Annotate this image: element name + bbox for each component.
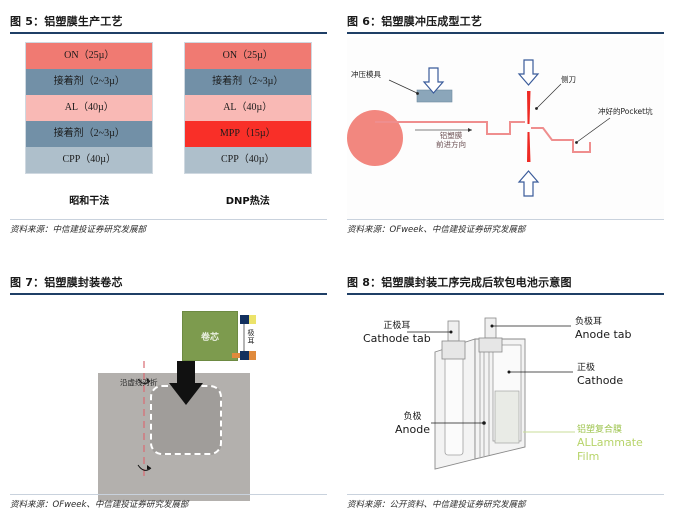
cathode-plate-inner-shape (495, 391, 519, 443)
layer-row: AL（40µ） (185, 95, 311, 121)
die-leader-dot (416, 92, 419, 95)
layer-stack: ON（25µ） 接着剂（2~3µ） AL（40µ） MPP（15µ） CPP（4… (184, 42, 312, 174)
stamping-die-label: 冲压模具 (351, 71, 381, 80)
figure-7-header: 图 7：铝塑膜封装卷芯 (10, 271, 327, 295)
lower-blade-shape (527, 132, 531, 162)
figure-6-body: 冲压模具 铝塑膜 前进方向 侧刀 冲好的Pocket坑 (347, 38, 664, 219)
aluminum-film-label: 铝塑复合膜 ALLammate Film (577, 425, 643, 464)
layer-row: ON（25µ） (26, 43, 152, 69)
anode-label: 负极 Anode (395, 412, 430, 437)
winding-core-fold-diagram: 卷芯 (10, 299, 327, 480)
layer-row: AL（40µ） (26, 95, 152, 121)
figure-7-panel: 图 7：铝塑膜封装卷芯 卷芯 (0, 261, 337, 522)
film-path-right (531, 128, 590, 152)
anode-label-cn: 负极 (395, 412, 430, 423)
layer-stack: ON（25µ） 接着剂（2~3µ） AL（40µ） 接着剂（2~3µ） CPP（… (25, 42, 153, 174)
anode-leader-dot (482, 421, 486, 425)
figure-7-body: 卷芯 (10, 299, 327, 480)
layer-row: 接着剂（2~3µ） (26, 121, 152, 147)
cathode-tab-shape (448, 321, 459, 341)
anode-tab-seal-shape (479, 338, 502, 352)
anode-tab-foil-shape (249, 351, 256, 360)
layer-row: CPP（40µ） (26, 147, 152, 173)
blade-leader-dot (535, 107, 538, 110)
stamping-process-diagram: 冲压模具 铝塑膜 前进方向 侧刀 冲好的Pocket坑 (347, 38, 664, 219)
layer-stack-showa: ON（25µ） 接着剂（2~3µ） AL（40µ） 接着剂（2~3µ） CPP（… (25, 42, 153, 219)
anode-tab-label-en: Anode tab (575, 328, 632, 342)
cathode-tab-leader-dot (450, 331, 453, 334)
anode-tab-leader-dot (491, 325, 494, 328)
figure-6-header: 图 6：铝塑膜冲压成型工艺 (347, 10, 664, 34)
layer-stack-group: ON（25µ） 接着剂（2~3µ） AL（40µ） 接着剂（2~3µ） CPP（… (10, 38, 327, 219)
figure-6-title: 图 6：铝塑膜冲压成型工艺 (347, 13, 482, 29)
figure-5-panel: 图 5：铝塑膜生产工艺 ON（25µ） 接着剂（2~3µ） AL（40µ） 接着… (0, 0, 337, 261)
cathode-tab-foil-shape (249, 315, 256, 324)
layer-stack-dnp: ON（25µ） 接着剂（2~3µ） AL（40µ） MPP（15µ） CPP（4… (184, 42, 312, 219)
anode-tab-label-cn: 负极耳 (575, 317, 632, 328)
report-figure-page: 图 5：铝塑膜生产工艺 ON（25µ） 接着剂（2~3µ） AL（40µ） 接着… (0, 0, 674, 522)
tab-label: 极耳 (246, 329, 256, 345)
upper-blade-shape (527, 91, 531, 124)
cathode-leader-dot (508, 371, 511, 374)
cathode-tab-seal-shape (442, 341, 465, 359)
layer-row: ON（25µ） (185, 43, 311, 69)
cathode-tab-label: 正极耳 Cathode tab (363, 321, 431, 346)
layer-row: CPP（40µ） (185, 147, 311, 173)
anode-tab-shape (240, 351, 249, 360)
pocket-label: 冲好的Pocket坑 (598, 108, 653, 117)
layer-row: 接着剂（2~3µ） (26, 69, 152, 95)
figure-6-panel: 图 6：铝塑膜冲压成型工艺 (337, 0, 674, 261)
cathode-tab-label-cn: 正极耳 (363, 321, 431, 332)
figure-8-title: 图 8：铝塑膜封装工序完成后软包电池示意图 (347, 274, 572, 290)
die-down-arrow-icon (424, 68, 443, 93)
figure-8-source: 资料来源：公开资料、中信建投证券研究发展部 (347, 494, 664, 510)
cathode-tab-label-en: Cathode tab (363, 332, 431, 346)
layer-stack-caption: DNP热法 (226, 192, 270, 207)
core-insert-arrow-icon (169, 361, 203, 405)
anode-tab-shape (485, 318, 496, 338)
figure-5-source: 资料来源：中信建投证券研究发展部 (10, 219, 327, 235)
film-direction-label-line2: 前进方向 (421, 141, 481, 150)
cathode-label-cn: 正极 (577, 363, 623, 374)
figure-5-body: ON（25µ） 接着剂（2~3µ） AL（40µ） 接着剂（2~3µ） CPP（… (10, 38, 327, 219)
anode-tab-label: 负极耳 Anode tab (575, 317, 632, 342)
side-blade-label: 侧刀 (561, 76, 576, 85)
cathode-label: 正极 Cathode (577, 363, 623, 388)
blade-leader-line (537, 84, 561, 108)
anode-label-en: Anode (395, 423, 430, 437)
figure-5-header: 图 5：铝塑膜生产工艺 (10, 10, 327, 34)
pouch-cell-diagram: 正极耳 Cathode tab 负极耳 Anode tab 正极 Cathode… (347, 299, 664, 480)
anode-plate-shape (445, 351, 463, 455)
figure-7-title: 图 7：铝塑膜封装卷芯 (10, 274, 123, 290)
layer-row: 接着剂（2~3µ） (185, 69, 311, 95)
layer-row: MPP（15µ） (185, 121, 311, 147)
figure-8-panel: 图 8：铝塑膜封装工序完成后软包电池示意图 (337, 261, 674, 522)
pocket-leader-line (577, 118, 610, 142)
layer-stack-caption: 昭和干法 (69, 192, 109, 207)
figure-6-source: 资料来源：OFweek、中信建投证券研究发展部 (347, 219, 664, 235)
blade-up-arrow-icon (519, 171, 538, 196)
figure-8-header: 图 8：铝塑膜封装工序完成后软包电池示意图 (347, 271, 664, 295)
aluminum-film-label-en-line1: ALLammate (577, 436, 643, 450)
stamping-diagram-svg (347, 38, 664, 218)
pocket-leader-dot (575, 141, 578, 144)
anode-tab-lead-shape (232, 353, 240, 358)
aluminum-film-label-en-line2: Film (577, 450, 643, 464)
film-roll-shape (347, 110, 403, 166)
figure-8-body: 正极耳 Cathode tab 负极耳 Anode tab 正极 Cathode… (347, 299, 664, 480)
figure-5-title: 图 5：铝塑膜生产工艺 (10, 13, 123, 29)
blade-down-arrow-icon (519, 60, 538, 85)
cathode-label-en: Cathode (577, 374, 623, 388)
aluminum-film-label-cn: 铝塑复合膜 (577, 425, 643, 436)
figure-7-source: 资料来源：OFweek、中信建投证券研究发展部 (10, 494, 327, 510)
fold-diagram-svg (10, 299, 327, 480)
fold-instruction-label: 沿虚线对折 (120, 377, 158, 388)
die-leader-line (389, 80, 417, 93)
cathode-tab-shape (240, 315, 249, 324)
